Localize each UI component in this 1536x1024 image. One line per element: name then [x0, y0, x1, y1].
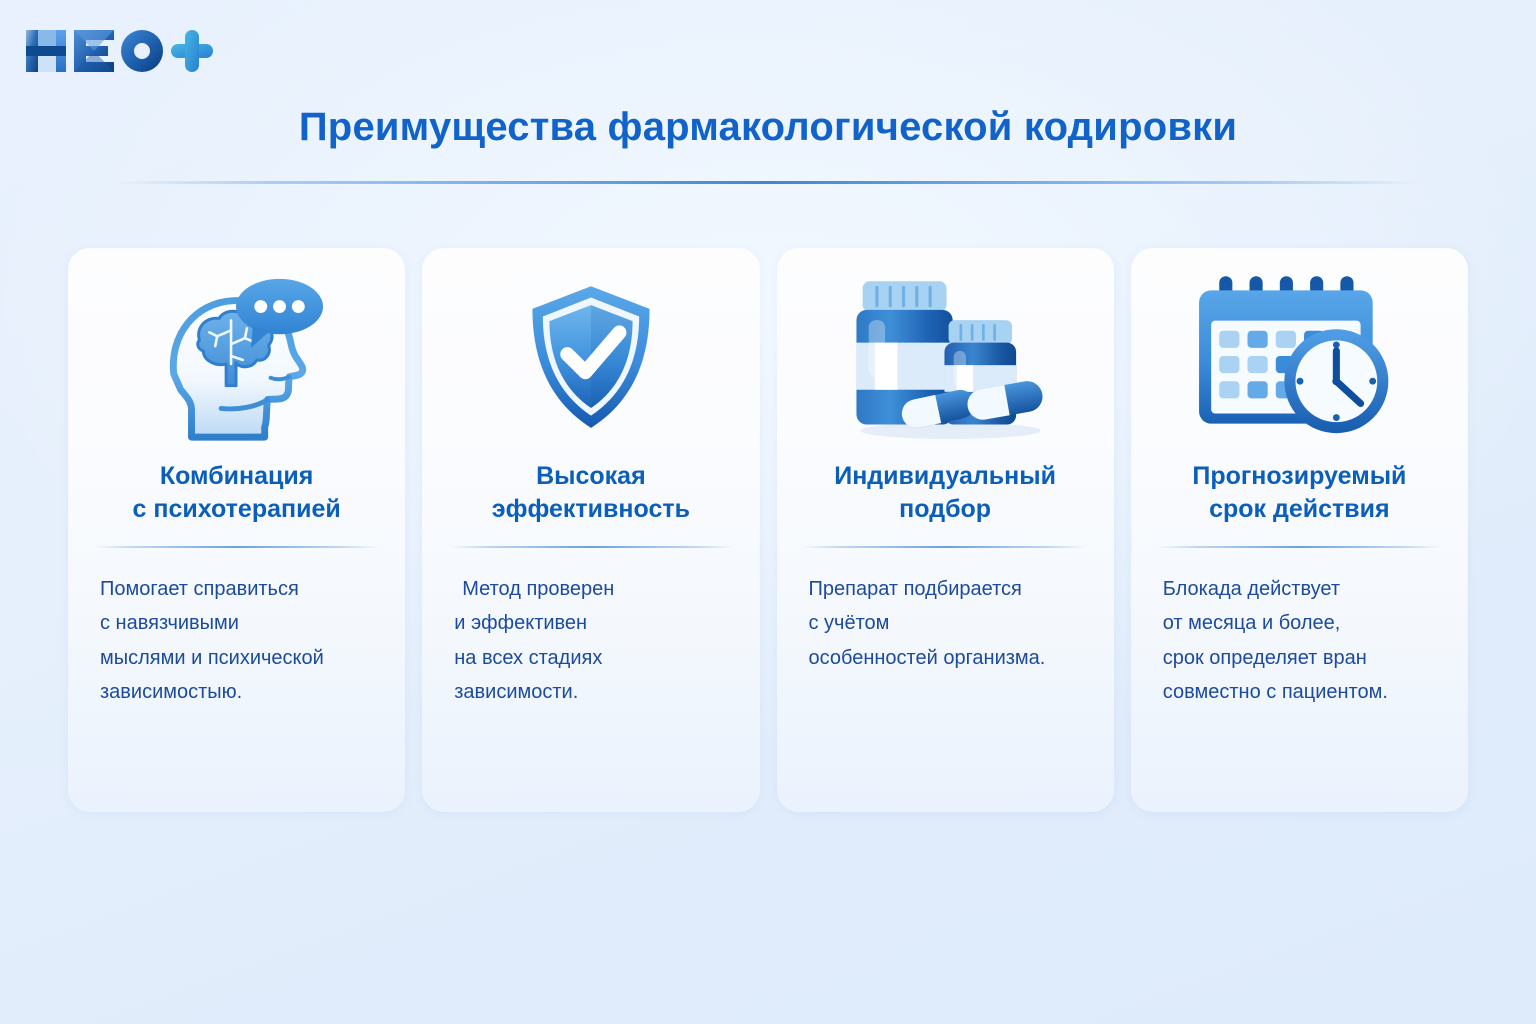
- card-body-line: на всех стадиях: [454, 641, 733, 675]
- card-heading: Индивидуальный подбор: [820, 460, 1070, 534]
- card-body-line: от месяца и более,: [1163, 606, 1442, 640]
- page-title: Преимущества фармакологической кодировки: [0, 104, 1536, 150]
- icon-svg-head-brain: [148, 269, 326, 447]
- neo-plus-logo: [18, 20, 218, 82]
- card-body-line: мыслями и психической: [100, 641, 379, 675]
- benefit-card-effectiveness[interactable]: Высокая эффективность Метод проверен и э…: [422, 248, 759, 812]
- card-body-line: Метод проверен: [454, 572, 733, 606]
- logo-letter-n: [26, 30, 66, 72]
- card-heading-line1: Высокая: [536, 462, 646, 490]
- infographic-slide: Преимущества фармакологической кодировки: [0, 0, 1536, 1024]
- card-body: Препарат подбирается с учётом особенност…: [777, 548, 1114, 675]
- logo-letter-e: [74, 30, 114, 72]
- calendar-clock-icon: [1131, 248, 1468, 458]
- card-body: Блокада действует от месяца и более, сро…: [1131, 548, 1468, 710]
- benefit-card-individual-selection[interactable]: Индивидуальный подбор Препарат подбирает…: [777, 248, 1114, 812]
- icon-svg-pills: [838, 271, 1053, 445]
- card-heading: Комбинация с психотерапией: [119, 460, 355, 534]
- card-body-line: и эффективен: [454, 606, 733, 640]
- card-body: Помогает справиться с навязчивыми мыслям…: [68, 548, 405, 710]
- title-divider: [115, 181, 1421, 184]
- card-heading-line1: Комбинация: [160, 462, 314, 490]
- card-body-line: зависимости.: [454, 675, 733, 709]
- icon-svg-calendar-clock: [1193, 272, 1405, 444]
- benefit-card-psychotherapy[interactable]: Комбинация с психотерапией Помогает спра…: [68, 248, 405, 812]
- card-heading-line2: подбор: [899, 495, 991, 523]
- card-body-line: особенностей организма.: [809, 641, 1088, 675]
- shield-checkmark-icon: [422, 248, 759, 458]
- card-body-line: Препарат подбирается: [809, 572, 1088, 606]
- clock-icon: [1286, 331, 1387, 432]
- page-title-wrap: Преимущества фармакологической кодировки: [0, 104, 1536, 150]
- head-brain-speech-bubble-icon: [68, 248, 405, 458]
- card-body-line: Блокада действует: [1163, 572, 1442, 606]
- medicine-bottles-capsules-icon: [777, 248, 1114, 458]
- benefit-card-duration[interactable]: Прогнозируемый срок действия Блокада дей…: [1131, 248, 1468, 812]
- logo-svg: [18, 20, 218, 82]
- card-body-line: Помогает справиться: [100, 572, 379, 606]
- logo-plus-icon: [171, 30, 213, 72]
- card-heading-line1: Индивидуальный: [834, 462, 1056, 490]
- card-body-line: с навязчивыми: [100, 606, 379, 640]
- icon-svg-shield: [506, 273, 676, 443]
- card-body-line: срок определяет вран: [1163, 641, 1442, 675]
- card-body-line: совместно с пациентом.: [1163, 675, 1442, 709]
- card-heading-line1: Прогнозируемый: [1192, 462, 1406, 490]
- logo-letter-o: [121, 30, 163, 72]
- benefit-cards: Комбинация с психотерапией Помогает спра…: [68, 248, 1468, 812]
- card-heading: Высокая эффективность: [478, 460, 704, 534]
- card-heading-line2: эффективность: [492, 495, 690, 523]
- card-body-line: зависимостыю.: [100, 675, 379, 709]
- card-body: Метод проверен и эффективен на всех стад…: [422, 548, 759, 710]
- card-heading-line2: срок действия: [1209, 495, 1390, 523]
- card-heading: Прогнозируемый срок действия: [1178, 460, 1420, 534]
- card-body-line: с учётом: [809, 606, 1088, 640]
- card-heading-line2: с психотерапией: [133, 495, 341, 523]
